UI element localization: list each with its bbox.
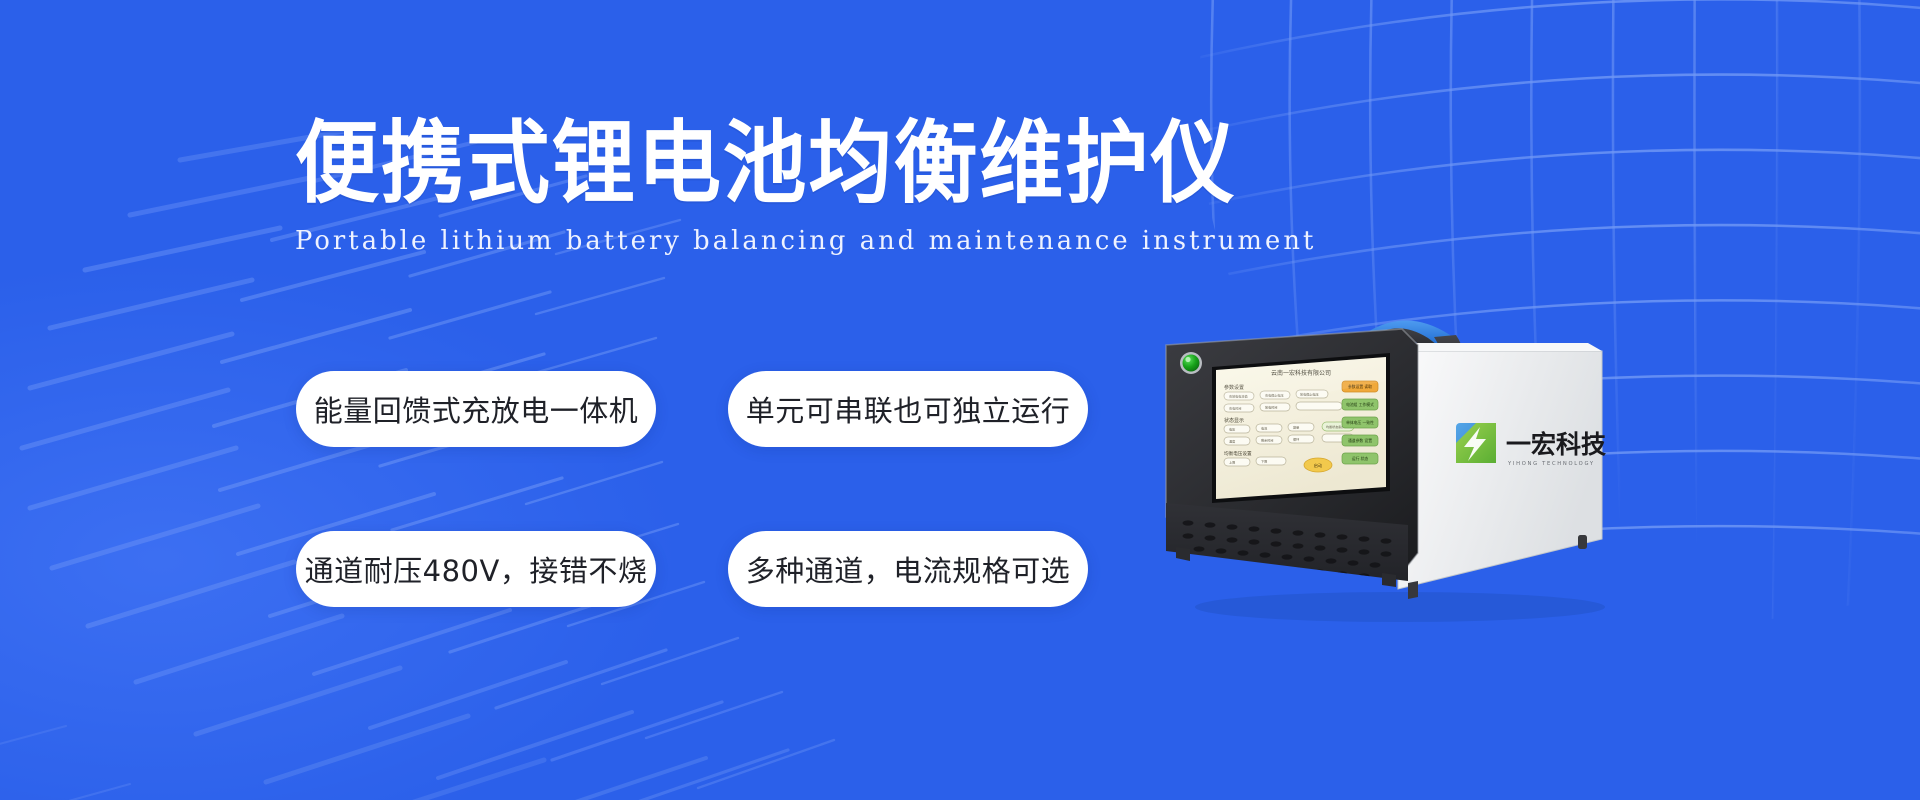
feature-pill-1[interactable]: 能量回馈式充放电一体机 — [296, 371, 656, 447]
brand-logo-text: 一宏科技 — [1506, 430, 1606, 459]
svg-text:容量: 容量 — [1293, 425, 1299, 430]
product-banner: 便携式锂电池均衡维护仪 Portable lithium battery bal… — [0, 0, 1920, 800]
svg-text:通道参数 设置: 通道参数 设置 — [1348, 438, 1372, 443]
svg-text:剩余时间: 剩余时间 — [1261, 438, 1273, 443]
brand-logo: 一宏科技 YIHONG TECHNOLOGY — [1456, 423, 1606, 467]
title-block: 便携式锂电池均衡维护仪 Portable lithium battery bal… — [295, 118, 1395, 256]
feature-pill-4[interactable]: 多种通道，电流规格可选 — [728, 531, 1088, 607]
svg-text:启动: 启动 — [1314, 462, 1322, 469]
feature-pill-3[interactable]: 通道耐压480V，接错不烧 — [296, 531, 656, 607]
banner-content: 便携式锂电池均衡维护仪 Portable lithium battery bal… — [0, 0, 1920, 800]
svg-text:电池组 工作模式: 电池组 工作模式 — [1346, 402, 1374, 407]
svg-text:电压: 电压 — [1229, 427, 1235, 432]
power-indicator-light — [1180, 352, 1202, 374]
feature-pill-list: 能量回馈式充放电一体机 单元可串联也可独立运行 通道耐压480V，接错不烧 多种… — [296, 371, 1126, 607]
brand-logo-pinyin: YIHONG TECHNOLOGY — [1507, 461, 1595, 467]
svg-text:运行 状态: 运行 状态 — [1352, 456, 1369, 461]
feature-pill-2[interactable]: 单元可串联也可独立运行 — [728, 371, 1088, 447]
svg-text:下限: 下限 — [1261, 459, 1267, 464]
svg-text:均衡电压设置: 均衡电压设置 — [1224, 450, 1252, 457]
svg-text:温度: 温度 — [1229, 439, 1235, 444]
svg-text:循环: 循环 — [1293, 437, 1299, 442]
svg-text:状态显示: 状态显示 — [1224, 417, 1244, 424]
svg-text:放电时间: 放电时间 — [1265, 405, 1277, 410]
svg-text:电流: 电流 — [1261, 426, 1267, 431]
product-device-image: 一宏科技 YIHONG TECHNOLOGY — [1150, 285, 1630, 630]
screen-start-button: 启动 — [1304, 458, 1332, 472]
page-title: 便携式锂电池均衡维护仪 — [295, 118, 1318, 210]
svg-text:单体电压 一致性: 单体电压 一致性 — [1346, 420, 1374, 425]
device-screen: 云南一宏科技有限公司 参数设置 充放电电流值充电截止电压 放电截止电压 — [1212, 353, 1390, 503]
page-subtitle: Portable lithium battery balancing and m… — [295, 226, 1384, 256]
svg-text:上限: 上限 — [1229, 460, 1235, 465]
